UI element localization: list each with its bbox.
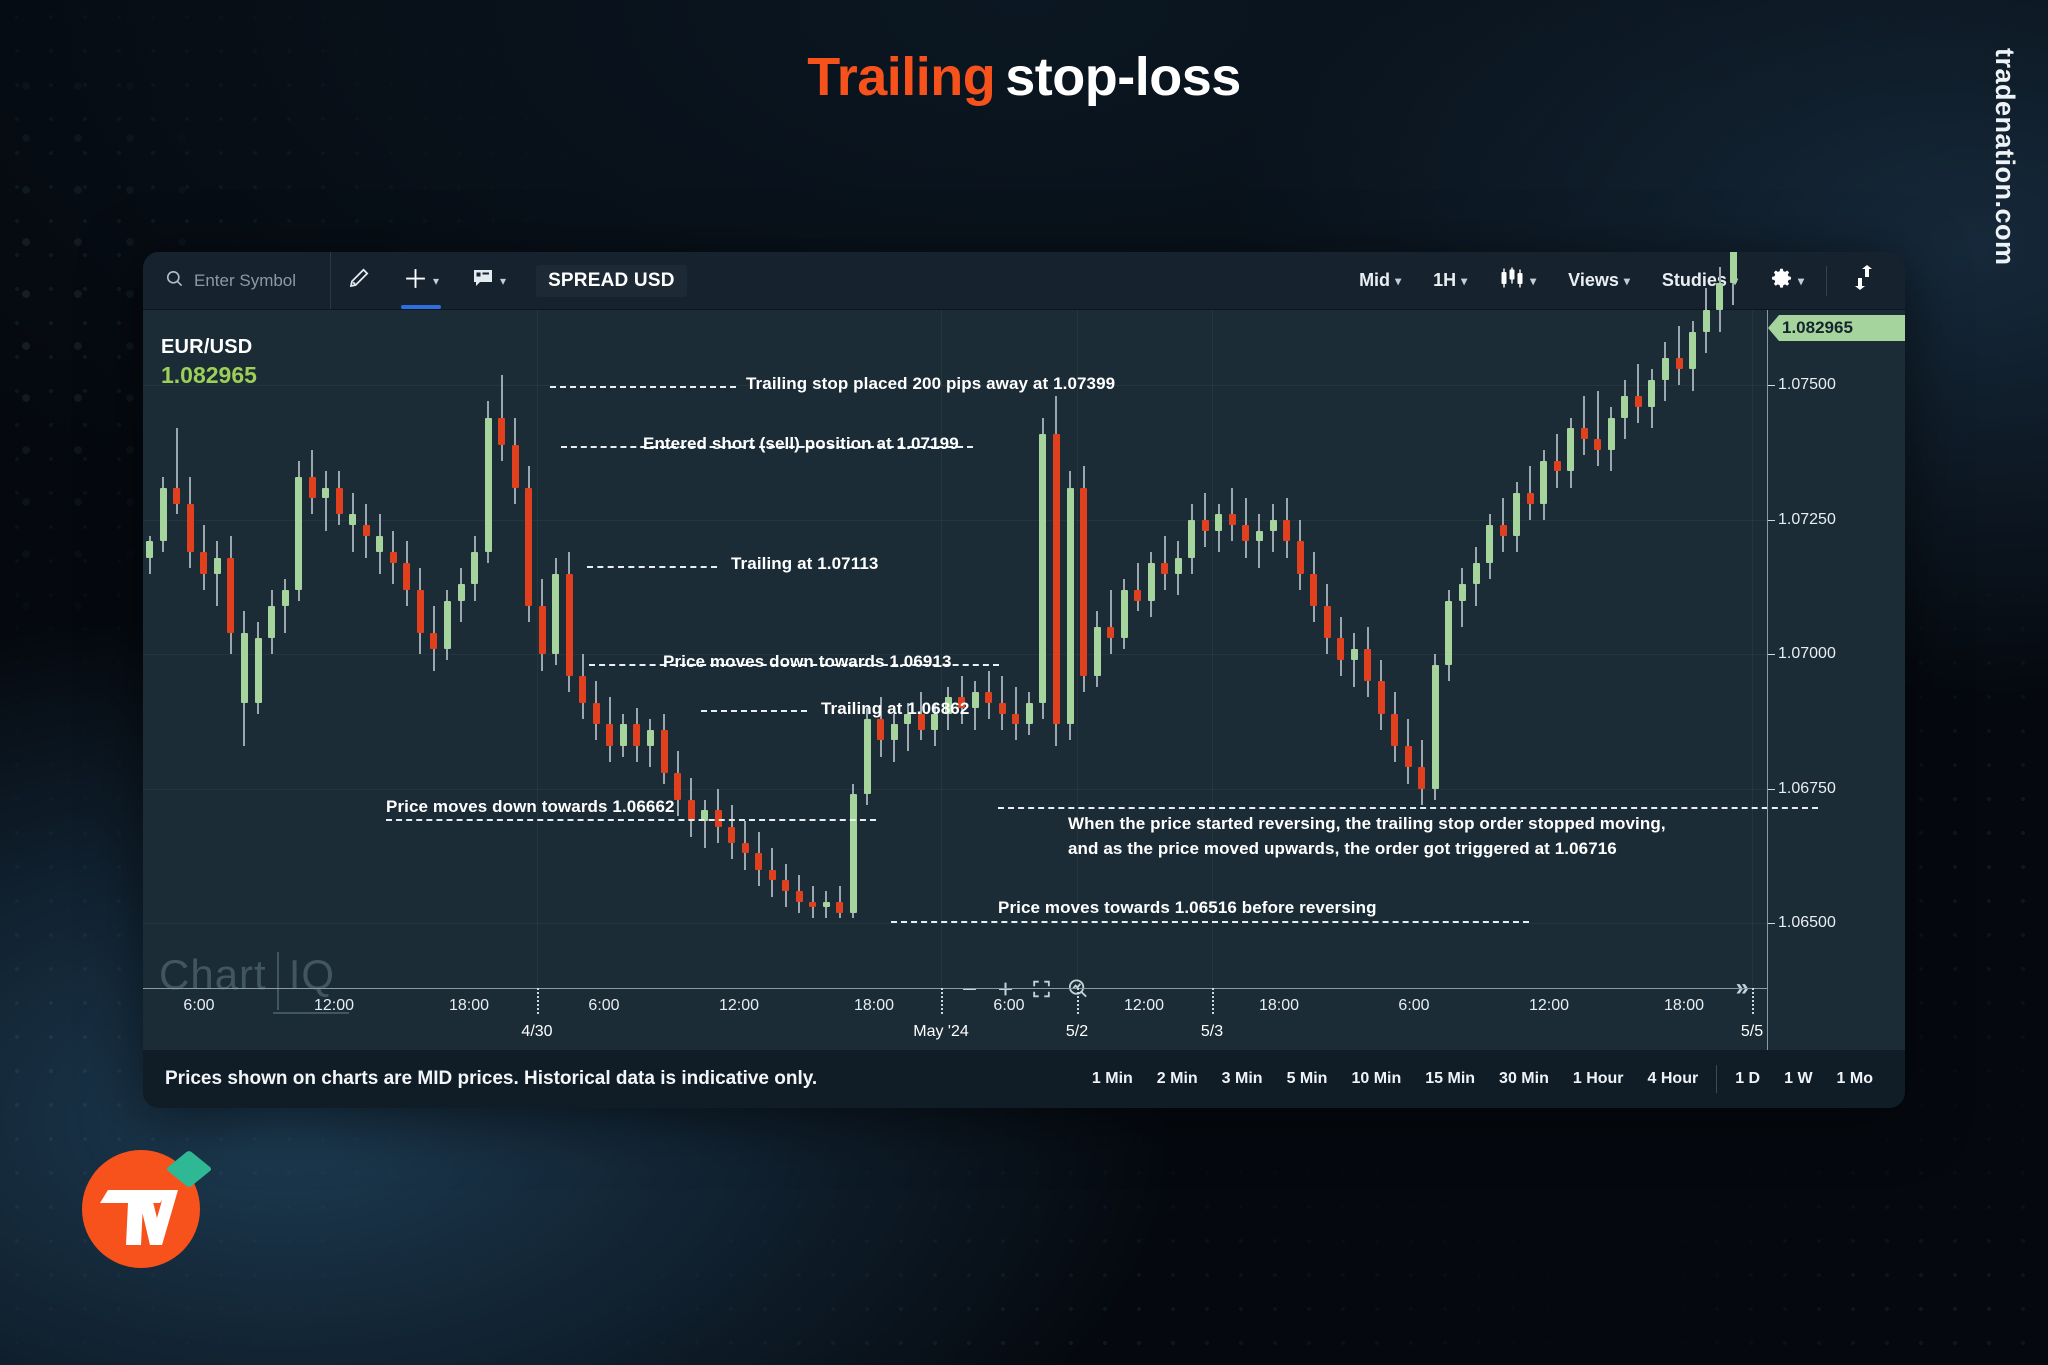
candle-body	[1378, 681, 1385, 713]
candle-wick	[1258, 514, 1260, 568]
time-axis-separator	[537, 988, 539, 1014]
site-url-label: tradenation.com	[1989, 48, 2020, 266]
candle-body	[579, 676, 586, 703]
candle-body	[268, 606, 275, 638]
pencil-icon	[347, 266, 371, 295]
candle-body	[1080, 488, 1087, 676]
annotation-entered-short: Entered short (sell) position at 1.07199	[643, 434, 959, 454]
time-axis[interactable]: 6:0012:0018:006:0012:0018:006:0012:0018:…	[143, 988, 1767, 1050]
candlestick-bar	[972, 310, 979, 988]
candle-body	[1053, 434, 1060, 725]
timeframe-button[interactable]: 4 Hour	[1636, 1070, 1711, 1088]
candlestick-bar	[864, 310, 871, 988]
timeframe-button[interactable]: 1 Hour	[1561, 1070, 1636, 1088]
candle-body	[877, 719, 884, 741]
candle-body	[1242, 525, 1249, 541]
candlestick-bar	[823, 310, 830, 988]
candle-body	[146, 541, 153, 557]
candle-body	[430, 633, 437, 649]
candle-body	[999, 703, 1006, 714]
candlestick-bar	[1500, 310, 1507, 988]
candle-body	[539, 606, 546, 654]
candle-body	[241, 633, 248, 703]
candle-body	[1039, 434, 1046, 703]
candle-body	[309, 477, 316, 499]
candlestick-bar	[918, 310, 925, 988]
candle-wick	[1137, 563, 1139, 611]
spread-badge[interactable]: SPREAD USD	[536, 265, 687, 297]
time-axis-separator	[1077, 988, 1079, 1014]
annotation-trailing-1: Trailing at 1.07113	[731, 554, 878, 574]
candlestick-bar	[1256, 310, 1263, 988]
time-axis-date: 5/2	[1066, 1023, 1088, 1041]
candlestick-bar	[471, 310, 478, 988]
candle-body	[349, 514, 356, 525]
time-axis-date: 5/5	[1741, 1023, 1763, 1041]
candle-body	[1581, 428, 1588, 439]
timeframe-button[interactable]: 3 Min	[1210, 1070, 1275, 1088]
candlestick-bar	[931, 310, 938, 988]
candlestick-bar	[701, 310, 708, 988]
candle-body	[566, 574, 573, 676]
candlestick-bar	[1608, 310, 1615, 988]
candle-wick	[1637, 364, 1639, 423]
time-axis-tick: 18:00	[1664, 997, 1704, 1015]
annotation-price-down-1: Price moves down towards 1.06913	[663, 652, 952, 672]
candle-body	[214, 558, 221, 574]
timeframe-button[interactable]: 1 Mo	[1825, 1070, 1885, 1088]
candlestick-bar	[1716, 310, 1723, 988]
candlestick-bar	[1567, 310, 1574, 988]
disclaimer-text: Prices shown on charts are MID prices. H…	[165, 1068, 817, 1090]
candle-body	[255, 638, 262, 703]
candle-body	[1324, 606, 1331, 638]
timeframe-button[interactable]: 30 Min	[1487, 1070, 1561, 1088]
candle-body	[891, 724, 898, 740]
chevron-down-icon: ▾	[500, 275, 506, 287]
candlestick-bar	[579, 310, 586, 988]
candle-body	[1473, 563, 1480, 585]
candlestick-bar	[674, 310, 681, 988]
candlestick-bar	[999, 310, 1006, 988]
candle-body	[1540, 461, 1547, 504]
candlestick-bar	[958, 310, 965, 988]
candlestick-bar	[1310, 310, 1317, 988]
candlestick-bar	[945, 310, 952, 988]
time-axis-tick: 12:00	[719, 997, 759, 1015]
candlestick-bar	[1540, 310, 1547, 988]
price-mode-button[interactable]: Mid ▾	[1343, 252, 1417, 309]
price-axis[interactable]: 1.075001.072501.070001.067501.065001.082…	[1767, 310, 1905, 1050]
candle-body	[823, 902, 830, 907]
candlestick-bar	[309, 310, 316, 988]
candlestick-bar	[796, 310, 803, 988]
candle-body	[836, 902, 843, 913]
candlestick-bar	[525, 310, 532, 988]
candlestick-bar	[1188, 310, 1195, 988]
chevron-down-icon: ▾	[1624, 275, 1630, 287]
candle-wick	[704, 800, 706, 848]
candle-body	[1432, 665, 1439, 789]
candlestick-bar	[552, 310, 559, 988]
annotation-trailing-stop-placed: Trailing stop placed 200 pips away at 1.…	[746, 374, 1115, 394]
candle-body	[864, 719, 871, 794]
candlestick-bar	[349, 310, 356, 988]
timeframe-button[interactable]: 1 W	[1772, 1070, 1824, 1088]
time-axis-tick: 6:00	[588, 997, 619, 1015]
timeframe-button[interactable]: 2 Min	[1145, 1070, 1210, 1088]
candlestick-bar	[904, 310, 911, 988]
candle-body	[525, 488, 532, 606]
candle-body	[417, 590, 424, 633]
candlestick-bar	[1554, 310, 1561, 988]
share-download-icon	[1849, 264, 1877, 297]
candle-body	[1121, 590, 1128, 638]
candle-body	[376, 536, 383, 552]
candle-body	[1175, 558, 1182, 574]
drawing-tools-group: ▾ ▾	[331, 252, 522, 309]
candle-body	[187, 504, 194, 552]
candle-body	[1418, 767, 1425, 789]
candlestick-bar	[1351, 310, 1358, 988]
candle-body	[227, 558, 234, 633]
candle-body	[633, 724, 640, 746]
candlestick-bar	[485, 310, 492, 988]
annotation-order-triggered: When the price started reversing, the tr…	[1068, 812, 1666, 861]
gridline-horizontal	[143, 923, 1767, 924]
candle-body	[1283, 520, 1290, 542]
chevron-down-icon: ▾	[1461, 275, 1467, 287]
annotation-line-stop	[550, 386, 736, 388]
time-axis-separator	[1212, 988, 1214, 1014]
gridline-horizontal	[143, 654, 1767, 655]
draw-tool-button[interactable]	[331, 252, 387, 309]
candlestick-bar	[1445, 310, 1452, 988]
candlestick-bar	[512, 310, 519, 988]
candlestick-bar	[227, 310, 234, 988]
candlestick-bar	[593, 310, 600, 988]
chart-type-button[interactable]: ▾	[1483, 252, 1552, 309]
annotation-icon	[471, 267, 495, 294]
candlestick-bar	[1161, 310, 1168, 988]
candlestick-bar	[1432, 310, 1439, 988]
time-axis-tick: 12:00	[1529, 997, 1569, 1015]
candle-body	[1012, 714, 1019, 725]
annotation-trailing-2: Trailing at 1.06862	[821, 699, 969, 719]
candle-body	[1229, 514, 1236, 525]
time-axis-tick: 12:00	[314, 997, 354, 1015]
page-title-rest: stop-loss	[1005, 47, 1241, 107]
candle-body	[1297, 541, 1304, 573]
price-axis-tick: 1.06500	[1778, 914, 1836, 932]
candlestick-bar	[1215, 310, 1222, 988]
time-axis-tick: 6:00	[1398, 997, 1429, 1015]
views-label: Views	[1568, 270, 1619, 291]
candle-body	[1513, 493, 1520, 536]
candlestick-bar	[1743, 310, 1750, 988]
candle-body	[1405, 746, 1412, 768]
candlestick-bar	[1621, 310, 1628, 988]
candlestick-bar	[647, 310, 654, 988]
candlestick-bar	[1094, 310, 1101, 988]
candlestick-bar	[1080, 310, 1087, 988]
candlestick-bar	[1364, 310, 1371, 988]
candlestick-bar	[255, 310, 262, 988]
candle-body	[1256, 531, 1263, 542]
candle-body	[755, 853, 762, 869]
candlestick-bar	[850, 310, 857, 988]
candlestick-bar	[539, 310, 546, 988]
chart-window: Enter Symbol ▾	[143, 252, 1905, 1108]
time-axis-tick: 6:00	[183, 997, 214, 1015]
time-axis-tick: 18:00	[854, 997, 894, 1015]
candle-body	[1161, 563, 1168, 574]
candle-body	[1067, 488, 1074, 725]
candle-body	[728, 827, 735, 843]
candle-body	[485, 418, 492, 553]
timeframe-selector: 1 Min2 Min3 Min5 Min10 Min15 Min30 Min1 …	[1080, 1065, 1905, 1093]
candle-body	[1594, 439, 1601, 450]
candlestick-bar	[390, 310, 397, 988]
candlestick-bar	[430, 310, 437, 988]
candle-body	[742, 843, 749, 854]
candlestick-bar	[633, 310, 640, 988]
candle-body	[282, 590, 289, 606]
candle-body	[1134, 590, 1141, 601]
candlestick-bar	[1581, 310, 1588, 988]
candlestick-bar	[891, 310, 898, 988]
candle-body	[796, 891, 803, 902]
time-axis-tick: 6:00	[993, 997, 1024, 1015]
annotation-tool-button[interactable]: ▾	[455, 252, 522, 309]
timeframe-button[interactable]: 15 Min	[1413, 1070, 1487, 1088]
crosshair-icon	[403, 266, 428, 296]
candle-body	[1500, 525, 1507, 536]
time-axis-date: May '24	[913, 1023, 969, 1041]
candlestick-bar	[376, 310, 383, 988]
timeframe-button[interactable]: 5 Min	[1275, 1070, 1340, 1088]
chevron-down-icon: ▾	[1395, 275, 1401, 287]
candle-body	[1188, 520, 1195, 558]
annotation-line-trailing2	[701, 710, 807, 712]
candle-body	[674, 773, 681, 800]
candlestick-bar	[160, 310, 167, 988]
candlestick-bar	[1418, 310, 1425, 988]
candlestick-bar	[1648, 310, 1655, 988]
candlestick-bar	[1513, 310, 1520, 988]
candle-body	[1270, 520, 1277, 531]
candle-wick	[216, 541, 218, 606]
candle-body	[1215, 514, 1222, 530]
gridline-horizontal	[143, 520, 1767, 521]
interval-button[interactable]: 1H ▾	[1417, 252, 1483, 309]
annotation-line-trigger	[998, 807, 1818, 809]
candlestick-bar	[1635, 310, 1642, 988]
candle-body	[173, 488, 180, 504]
candlestick-bar	[606, 310, 613, 988]
candlestick-bar	[214, 310, 221, 988]
candlestick-bar	[1121, 310, 1128, 988]
chart-footer: Prices shown on charts are MID prices. H…	[143, 1050, 1905, 1108]
candlestick-bar	[1378, 310, 1385, 988]
candlestick-bar	[620, 310, 627, 988]
time-axis-tick: 18:00	[1259, 997, 1299, 1015]
candle-body	[295, 477, 302, 590]
candle-body	[498, 418, 505, 445]
price-axis-tick: 1.07000	[1778, 645, 1836, 663]
chevron-down-icon: ▾	[1530, 275, 1536, 287]
chevron-down-icon: ▾	[1798, 275, 1804, 287]
candlestick-bar	[363, 310, 370, 988]
candle-body	[1730, 252, 1737, 283]
candlestick-bar	[715, 310, 722, 988]
candlestick-bar	[1067, 310, 1074, 988]
candlestick-bar	[1703, 310, 1710, 988]
candle-body	[1703, 310, 1710, 332]
gridline-vertical	[1752, 310, 1753, 988]
candlestick-bar	[1175, 310, 1182, 988]
candle-body	[688, 800, 695, 822]
studies-button[interactable]: Studies ▾	[1646, 252, 1754, 309]
candlestick-bar	[403, 310, 410, 988]
candle-body	[444, 601, 451, 649]
page-title-accent: Trailing	[807, 47, 995, 107]
settings-button[interactable]: ▾	[1754, 252, 1820, 309]
candle-body	[1445, 601, 1452, 666]
candle-body	[1202, 520, 1209, 531]
time-axis-date: 5/3	[1201, 1023, 1223, 1041]
candlestick-bar	[1297, 310, 1304, 988]
current-price-flag: 1.082965	[1768, 315, 1905, 341]
chart-canvas[interactable]: EUR/USD 1.082965 Trailing stop placed 20…	[143, 310, 1905, 1050]
gridline-vertical	[1077, 310, 1078, 988]
time-axis-tick: 18:00	[449, 997, 489, 1015]
candle-body	[809, 902, 816, 907]
candle-body	[200, 552, 207, 574]
candle-body	[1310, 574, 1317, 606]
candle-body	[512, 445, 519, 488]
candlestick-bar	[187, 310, 194, 988]
candle-body	[336, 488, 343, 515]
gridline-vertical	[941, 310, 942, 988]
candle-body	[620, 724, 627, 746]
views-button[interactable]: Views ▾	[1552, 252, 1646, 309]
candle-wick	[284, 579, 286, 633]
candle-body	[390, 552, 397, 563]
candle-body	[593, 703, 600, 725]
candlestick-bar	[1730, 310, 1737, 988]
annotation-line-down2	[386, 819, 876, 821]
candlestick-bar	[1324, 310, 1331, 988]
candlestick-bar	[566, 310, 573, 988]
candle-body	[1567, 428, 1574, 471]
crosshair-tool-button[interactable]: ▾	[387, 252, 455, 309]
candlestick-bar	[1134, 310, 1141, 988]
candlestick-bar	[417, 310, 424, 988]
candlestick-bar	[458, 310, 465, 988]
timeframe-button[interactable]: 10 Min	[1339, 1070, 1413, 1088]
candle-body	[1662, 358, 1669, 380]
candle-body	[1621, 396, 1628, 418]
share-button[interactable]	[1833, 252, 1893, 309]
candle-body	[552, 574, 559, 655]
annotation-line-reverse	[891, 921, 1529, 923]
candlestick-bar	[241, 310, 248, 988]
page-title: Trailingstop-loss	[0, 46, 2048, 108]
timeframe-button[interactable]: 1 Min	[1080, 1070, 1145, 1088]
candle-wick	[1678, 326, 1680, 385]
candle-body	[1351, 649, 1358, 660]
price-axis-tick: 1.06750	[1778, 780, 1836, 798]
candlestick-bar	[146, 310, 153, 988]
candlestick-bar	[1527, 310, 1534, 988]
search-icon	[165, 269, 184, 293]
candle-body	[1608, 418, 1615, 450]
gridline-horizontal	[143, 789, 1767, 790]
candlestick-bar	[336, 310, 343, 988]
candlestick-bar	[1594, 310, 1601, 988]
gear-icon	[1770, 267, 1793, 295]
candlestick-bar	[1337, 310, 1344, 988]
interval-label: 1H	[1433, 270, 1456, 291]
candle-body	[1527, 493, 1534, 504]
candlestick-bar	[1486, 310, 1493, 988]
candlestick-bar	[769, 310, 776, 988]
candlestick-bar	[1757, 310, 1764, 988]
candle-wick	[325, 471, 327, 530]
candle-body	[1676, 358, 1683, 369]
candlestick-bar	[268, 310, 275, 988]
candlestick-bar	[728, 310, 735, 988]
tradenation-logo	[82, 1150, 200, 1268]
candlestick-bar	[1229, 310, 1236, 988]
timeframe-button[interactable]: 1 D	[1723, 1070, 1772, 1088]
price-axis-tick: 1.07500	[1778, 376, 1836, 394]
candle-wick	[1597, 391, 1599, 466]
toolbar-divider	[1826, 266, 1827, 296]
candle-body	[458, 584, 465, 600]
price-axis-tick: 1.07250	[1778, 511, 1836, 529]
candlestick-bar	[498, 310, 505, 988]
candle-body	[1459, 584, 1466, 600]
candle-body	[403, 563, 410, 590]
candle-body	[769, 870, 776, 881]
time-axis-tick: 12:00	[1124, 997, 1164, 1015]
candlestick-bar	[1012, 310, 1019, 988]
candle-body	[322, 488, 329, 499]
timeframe-divider	[1716, 1065, 1717, 1093]
candlestick-bar	[985, 310, 992, 988]
candle-wick	[1583, 396, 1585, 455]
candlestick-bar	[782, 310, 789, 988]
candle-body	[1486, 525, 1493, 563]
symbol-search[interactable]: Enter Symbol	[143, 252, 331, 309]
candlestick-bar	[661, 310, 668, 988]
candle-body	[160, 488, 167, 542]
candle-body	[972, 692, 979, 708]
candlestick-bar	[173, 310, 180, 988]
candlestick-bar	[295, 310, 302, 988]
candle-body	[985, 692, 992, 703]
candlestick-bar	[688, 310, 695, 988]
candlestick-bar	[200, 310, 207, 988]
candle-wick	[1110, 590, 1112, 655]
candlestick-bar	[1270, 310, 1277, 988]
candlestick-bar	[1283, 310, 1290, 988]
candlestick-bar	[1148, 310, 1155, 988]
symbol-search-placeholder: Enter Symbol	[194, 271, 296, 291]
candlestick-bar	[1662, 310, 1669, 988]
